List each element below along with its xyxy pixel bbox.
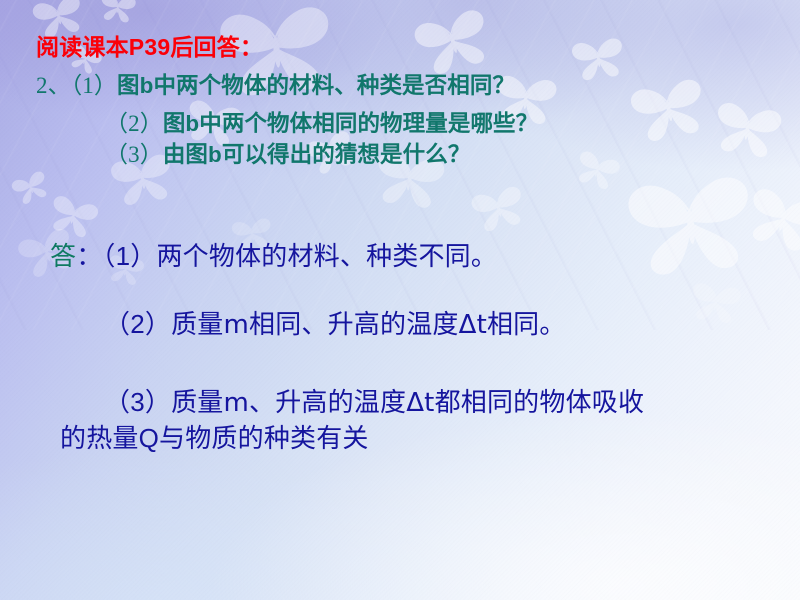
question-line-2: （2）图b中两个物体相同的物理量是哪些？ [105, 112, 538, 136]
question-3-number: （3） [105, 142, 163, 167]
question-2-text: 图b中两个物体相同的物理量是哪些？ [163, 111, 538, 136]
question-3-text: 由图b可以得出的猜想是什么？ [163, 142, 471, 167]
answer-line-2: （2）质量m相同、升高的温度Δt相同。 [104, 311, 566, 338]
answer-line-3: （3）质量m、升高的温度Δt都相同的物体吸收 [104, 389, 644, 416]
slide-heading: 阅读课本P39后回答： [36, 36, 263, 59]
answer-line-1: 答：（1）两个物体的材料、种类不同。 [50, 243, 497, 269]
slide-canvas: 阅读课本P39后回答： 2、（1）图b中两个物体的材料、种类是否相同？ （2）图… [0, 0, 800, 600]
answer-3-text: 质量m、升高的温度Δt都相同的物体吸收 [171, 388, 644, 418]
question-line-3: （3）由图b可以得出的猜想是什么？ [105, 143, 470, 167]
answer-1-number: （1） [102, 241, 156, 271]
question-2-number: （2） [105, 111, 163, 136]
answer-label: 答 [50, 241, 76, 271]
answer-2-text: 质量m相同、升高的温度Δt相同。 [171, 310, 566, 340]
question-1-number: 2、（1） [36, 73, 117, 98]
answer-label-colon: ： [76, 241, 102, 271]
answer-1-text: 两个物体的材料、种类不同。 [156, 241, 497, 271]
answer-line-3-continuation: 的热量Q与物质的种类有关 [60, 425, 369, 451]
question-line-1: 2、（1）图b中两个物体的材料、种类是否相同？ [36, 74, 515, 98]
question-1-text: 图b中两个物体的材料、种类是否相同？ [117, 73, 515, 98]
answer-3-number: （3） [104, 387, 171, 417]
answer-2-number: （2） [104, 309, 171, 339]
